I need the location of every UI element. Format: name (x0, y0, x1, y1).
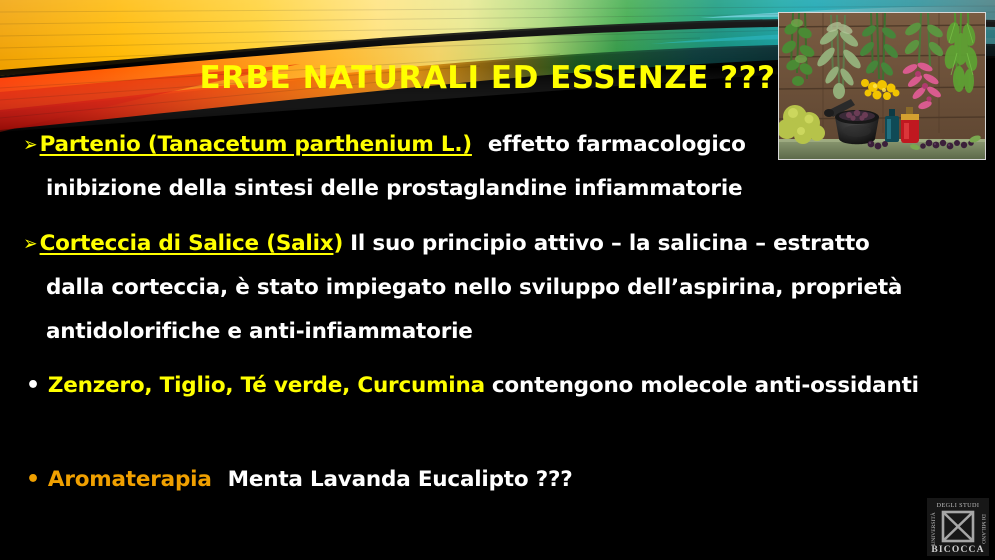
logo-bottom-text: BICOCCA (931, 545, 984, 555)
logo-right-text: DI MILANO (980, 514, 986, 544)
slide-body: ➢Partenio (Tanacetum parthenium L.)effet… (22, 122, 974, 502)
logo-top-text: DEGLI STUDI (937, 502, 980, 509)
bullet-text-salice-line3: antidolorifiche e anti-infiammatorie (46, 319, 473, 344)
bullet-highlight-salice-tail: ) (333, 231, 343, 256)
logo-left-text: UNIVERSITÀ (929, 512, 937, 546)
bullet-item-antiossidanti: •Zenzero, Tiglio, Té verde, Curcuminacon… (22, 364, 974, 408)
bullet-item-aromaterapia: •AromaterapiaMenta Lavanda Eucalipto ??? (22, 458, 974, 502)
arrow-bullet-icon: ➢ (23, 221, 37, 265)
bullet-highlight-aromaterapia: Aromaterapia (48, 467, 212, 492)
bullet-highlight-partenio: Partenio (Tanacetum parthenium L.) (40, 132, 472, 157)
bullet-text-salice: Il suo principio attivo – la salicina – … (350, 231, 870, 256)
presentation-slide: ERBE NATURALI ED ESSENZE ??? (0, 0, 995, 560)
dot-bullet-icon: • (26, 364, 40, 408)
bullet-highlight-antiossidanti: Zenzero, Tiglio, Té verde, Curcumina (48, 373, 485, 398)
bullet-text-partenio-line2: inibizione della sintesi delle prostagla… (46, 176, 742, 201)
bullet-text-partenio: effetto farmacologico (488, 132, 746, 157)
slide-title: ERBE NATURALI ED ESSENZE ??? (0, 60, 995, 96)
dot-bullet-icon: • (26, 458, 40, 502)
bullet-text-antiossidanti: contengono molecole anti-ossidanti (492, 373, 919, 398)
bullet-text-aromaterapia: Menta Lavanda Eucalipto ??? (228, 467, 573, 492)
bullet-text-salice-line2: dalla corteccia, è stato impiegato nello… (46, 275, 902, 300)
bullet-item-salice: ➢Corteccia di Salice (Salix)Il suo princ… (22, 221, 974, 354)
bullet-highlight-salice: Corteccia di Salice (Salix (40, 231, 334, 256)
universita-milano-bicocca-logo: DEGLI STUDI UNIVERSITÀ DI MILANO BICOCCA (927, 498, 989, 556)
arrow-bullet-icon: ➢ (23, 122, 37, 166)
